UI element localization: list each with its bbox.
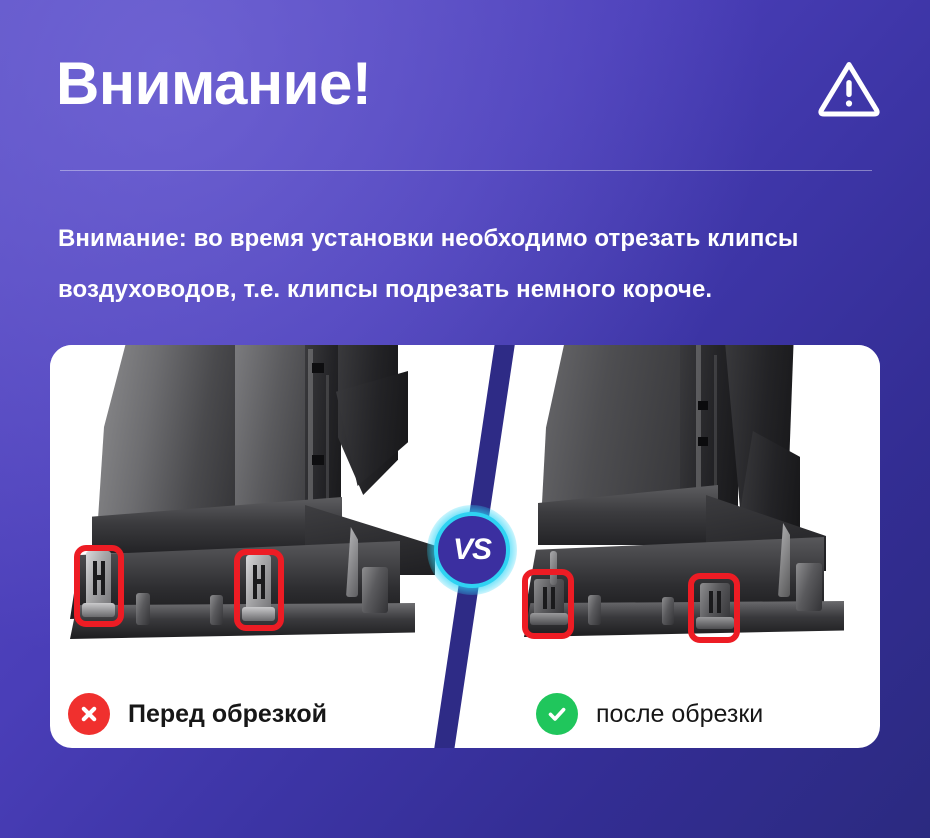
cross-circle-icon	[68, 693, 110, 735]
poster-header: Внимание!	[0, 0, 930, 170]
comparison-card: Перед обрезкой	[50, 345, 880, 748]
label-before-cut-text: Перед обрезкой	[128, 700, 327, 729]
highlight-box-clip-2	[688, 573, 740, 643]
label-after-cut: после обрезки	[536, 693, 763, 735]
page-title: Внимание!	[56, 52, 371, 115]
vs-badge: VS	[427, 505, 517, 595]
vs-label: VS	[453, 535, 491, 565]
vs-ring: VS	[434, 512, 510, 588]
highlight-box-clip-1	[74, 545, 124, 627]
photo-after-cut	[510, 345, 880, 675]
label-before-cut: Перед обрезкой	[68, 693, 327, 735]
highlight-box-clip-1	[522, 569, 574, 639]
label-after-cut-text: после обрезки	[596, 700, 763, 729]
warning-paragraph: Внимание: во время установки необходимо …	[58, 213, 888, 315]
highlight-box-clip-2	[234, 549, 284, 631]
warning-triangle-icon	[816, 58, 882, 120]
header-divider	[60, 170, 872, 171]
check-circle-icon	[536, 693, 578, 735]
comparison-pane-after: после обрезки	[510, 345, 880, 748]
warning-poster: Внимание! Внимание: во время установки н…	[0, 0, 930, 838]
